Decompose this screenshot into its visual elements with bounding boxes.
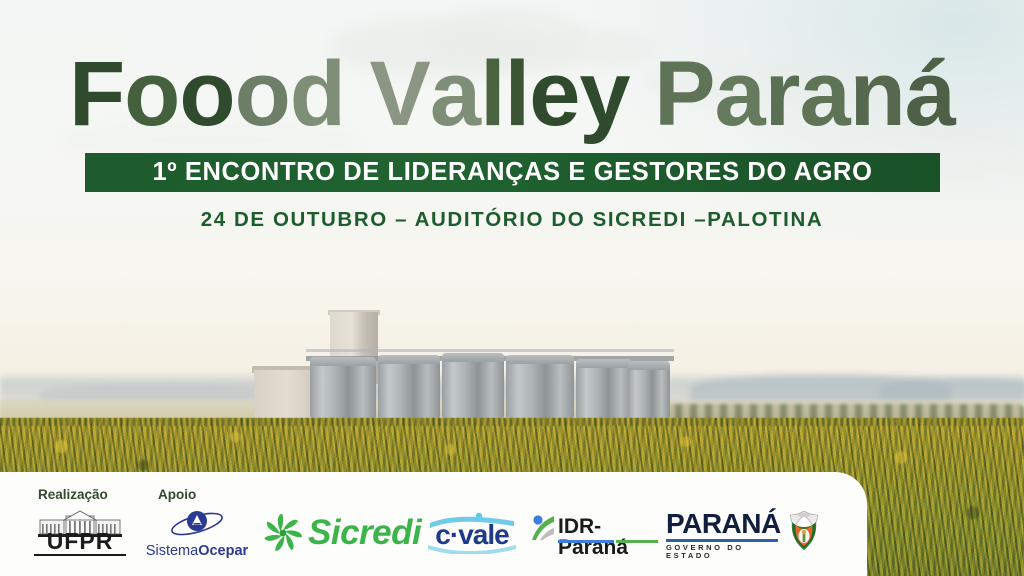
title-letter: V [370, 48, 430, 140]
title-letter: y [579, 48, 629, 140]
silo-bin [442, 360, 504, 418]
event-subtitle-text: 1º ENCONTRO DE LIDERANÇAS E GESTORES DO … [152, 158, 872, 187]
grain-silo-complex [250, 300, 670, 430]
silo-bin [506, 362, 574, 418]
event-poster: Foood Valley Paraná 1º ENCONTRO DE LIDER… [0, 0, 1024, 576]
ocepar-word-bold: Ocepar [198, 543, 248, 559]
title-letter: o [235, 48, 290, 140]
title-letter: d [290, 48, 345, 140]
logo-sistema-ocepar[interactable]: SistemaOcepar [138, 506, 256, 558]
title-letter: o [124, 48, 179, 140]
title-letter: a [430, 48, 480, 140]
apoio-label: Apoio [158, 487, 196, 502]
cvale-wordmark: c·vale [424, 521, 520, 549]
hill-shape [880, 378, 1024, 400]
ufpr-wordmark: UFPR [34, 530, 126, 556]
title-letter [630, 48, 655, 140]
silo-bin [628, 368, 670, 418]
ocepar-wordmark: SistemaOcepar [138, 544, 256, 559]
title-letter: l [480, 48, 505, 140]
idr-wordmark: IDR-Paraná [558, 516, 658, 558]
parana-wordmark: PARANÁ [666, 510, 781, 538]
silo-bin [378, 362, 440, 418]
sicredi-pinwheel-icon [262, 512, 304, 554]
field-top-edge [0, 418, 1024, 426]
title-letter: n [850, 48, 905, 140]
title-letter: l [505, 48, 530, 140]
silo-bin [310, 364, 376, 418]
parana-coat-of-arms-icon [784, 508, 824, 554]
title-letter: F [69, 48, 124, 140]
idr-green-rule [616, 540, 658, 543]
logo-cvale[interactable]: c·vale [424, 512, 520, 554]
idr-blue-rule [558, 540, 614, 543]
ocepar-word-light: Sistema [146, 543, 198, 559]
logo-idr-parana[interactable]: IDR-Paraná [530, 514, 658, 552]
logo-parana-governo[interactable]: PARANÁ GOVERNO DO ESTADO [666, 508, 826, 556]
title-letter: P [654, 48, 714, 140]
event-subtitle-banner: 1º ENCONTRO DE LIDERANÇAS E GESTORES DO … [85, 153, 940, 192]
logo-ufpr[interactable]: UFPR [34, 508, 126, 558]
date-venue-text: 24 DE OUTUBRO – AUDITÓRIO DO SICREDI –PA… [0, 208, 1024, 232]
logo-sicredi[interactable]: Sicredi [262, 512, 408, 556]
page-title: Foood Valley Paraná [0, 48, 1024, 140]
idr-leaf-icon [530, 514, 556, 542]
title-letter: e [529, 48, 579, 140]
realizacao-label: Realização [38, 487, 108, 502]
ocepar-orbit-icon [138, 506, 256, 540]
title-letter: o [179, 48, 234, 140]
parana-subtext: GOVERNO DO ESTADO [666, 544, 786, 559]
sicredi-wordmark: Sicredi [308, 515, 421, 550]
title-letter: a [715, 48, 765, 140]
silo-bin [576, 366, 632, 418]
parana-rule [666, 539, 778, 542]
title-letter: r [765, 48, 800, 140]
sponsor-logo-bar: Realização Apoio [0, 472, 867, 576]
silo-catwalk-rail [306, 349, 674, 352]
title-letter: a [799, 48, 849, 140]
title-letter [345, 48, 370, 140]
title-letter: á [905, 48, 955, 140]
